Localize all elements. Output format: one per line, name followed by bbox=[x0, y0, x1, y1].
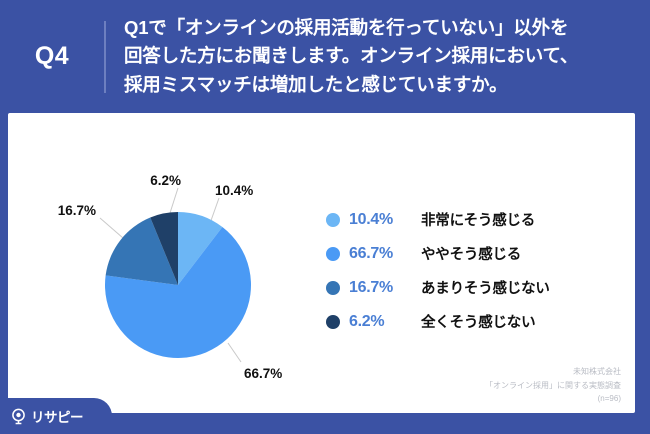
legend-percent-0: 10.4% bbox=[349, 211, 421, 229]
legend-color-swatch-2 bbox=[326, 281, 340, 295]
brand-logo[interactable]: リサピー bbox=[0, 398, 112, 434]
brand-logo-text: リサピー bbox=[31, 406, 83, 426]
pie-label-3: 6.2% bbox=[150, 173, 181, 188]
pie-label-0: 10.4% bbox=[215, 183, 253, 198]
question-line-1: Q1で「オンラインの採用活動を行っていない」以外を bbox=[124, 14, 578, 42]
question-line-2: 回答した方にお聞きします。オンライン採用において、 bbox=[124, 42, 578, 70]
legend-color-swatch-1 bbox=[326, 247, 340, 261]
legend-percent-3: 6.2% bbox=[349, 313, 421, 331]
pie-label-2: 16.7% bbox=[58, 203, 96, 218]
legend-label-1: ややそう感じる bbox=[421, 243, 521, 264]
legend-color-swatch-0 bbox=[326, 213, 340, 227]
source-line-3: (n=96) bbox=[485, 392, 621, 405]
chart-legend: 10.4% 非常にそう感じる 66.7% ややそう感じる 16.7% あまりそう… bbox=[326, 209, 550, 332]
question-header: Q4 Q1で「オンラインの採用活動を行っていない」以外を 回答した方にお聞きしま… bbox=[0, 0, 650, 113]
leader-line-3 bbox=[170, 188, 178, 213]
source-line-1: 未知株式会社 bbox=[485, 365, 621, 378]
pie-chart-svg: 10.4% 66.7% 16.7% 6.2% bbox=[48, 143, 308, 393]
legend-color-swatch-3 bbox=[326, 315, 340, 329]
chart-card: 10.4% 66.7% 16.7% 6.2% 10.4% 非常にそう感じる 66… bbox=[8, 113, 635, 413]
source-note: 未知株式会社 「オンライン採用」に関する実態調査 (n=96) bbox=[485, 365, 621, 405]
legend-percent-2: 16.7% bbox=[349, 279, 421, 297]
legend-item-3: 6.2% 全くそう感じない bbox=[326, 311, 550, 332]
leader-line-2 bbox=[100, 218, 123, 238]
legend-item-1: 66.7% ややそう感じる bbox=[326, 243, 550, 264]
header-divider bbox=[104, 21, 106, 93]
legend-item-0: 10.4% 非常にそう感じる bbox=[326, 209, 550, 230]
source-line-2: 「オンライン採用」に関する実態調査 bbox=[485, 379, 621, 392]
question-text: Q1で「オンラインの採用活動を行っていない」以外を 回答した方にお聞きします。オ… bbox=[124, 14, 578, 98]
leader-line-1 bbox=[228, 343, 241, 362]
question-number: Q4 bbox=[0, 42, 104, 71]
pie-label-1: 66.7% bbox=[244, 366, 282, 381]
legend-label-2: あまりそう感じない bbox=[421, 277, 550, 298]
legend-percent-1: 66.7% bbox=[349, 245, 421, 263]
legend-label-3: 全くそう感じない bbox=[421, 311, 535, 332]
question-line-3: 採用ミスマッチは増加したと感じていますか。 bbox=[124, 71, 578, 99]
legend-label-0: 非常にそう感じる bbox=[421, 209, 535, 230]
slide-root: Q4 Q1で「オンラインの採用活動を行っていない」以外を 回答した方にお聞きしま… bbox=[0, 0, 650, 434]
legend-item-2: 16.7% あまりそう感じない bbox=[326, 277, 550, 298]
pie-chart: 10.4% 66.7% 16.7% 6.2% bbox=[48, 143, 308, 393]
location-pin-icon bbox=[10, 408, 27, 425]
